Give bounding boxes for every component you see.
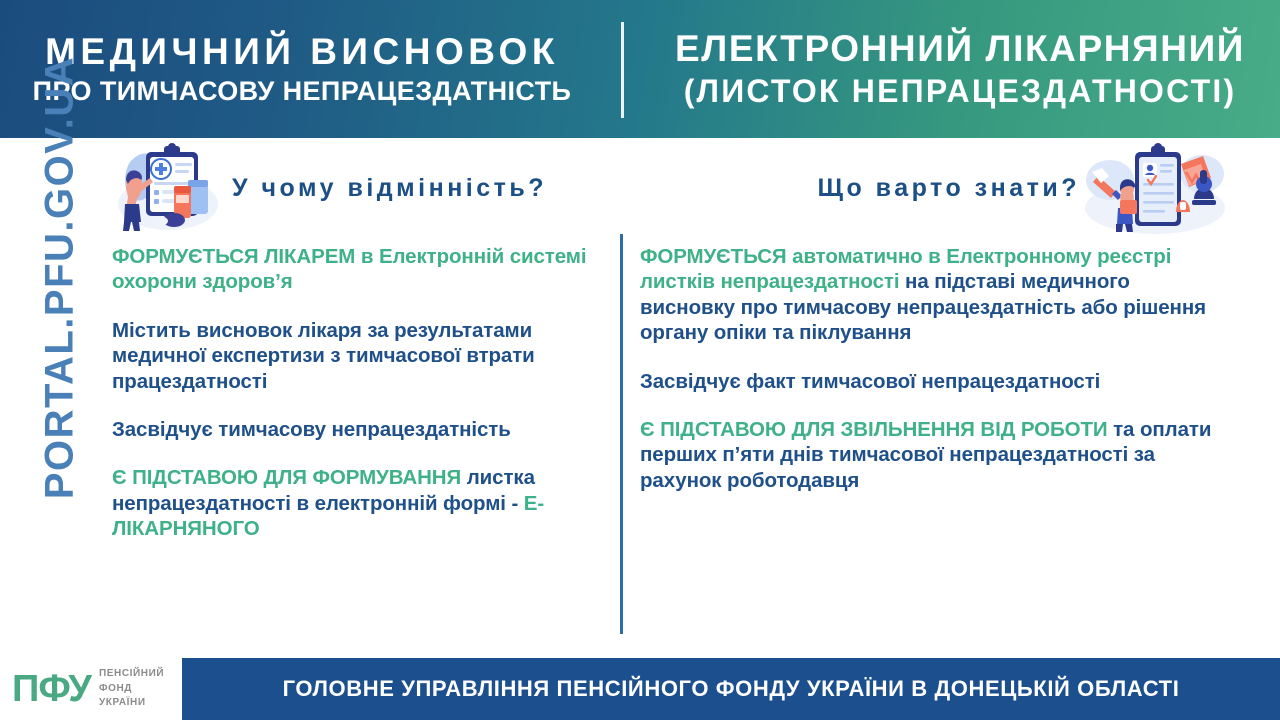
pfu-logo-line3: УКРАЇНИ [99,696,164,711]
left-column: У чому відмінність? ФОРМУЄТЬСЯ ЛІКАРЕМ в… [112,138,617,565]
header-left-line1: МЕДИЧНИЙ ВИСНОВОК [45,31,559,72]
right-column-header: Що варто знати? [640,138,1230,238]
left-block-1: ФОРМУЄТЬСЯ ЛІКАРЕМ в Електронній системі… [112,244,617,295]
right-block-1: ФОРМУЄТЬСЯ автоматично в Електронному ре… [640,244,1230,346]
right-block-3: Є ПІДСТАВОЮ ДЛЯ ЗВІЛЬНЕННЯ ВІД РОБОТИ та… [640,417,1230,493]
doctor-clipboard-medicine-icon [112,142,224,234]
right-block-2-text: Засвідчує факт тимчасової непрацездатнос… [640,370,1100,393]
left-column-blocks: ФОРМУЄТЬСЯ ЛІКАРЕМ в Електронній системі… [112,238,617,542]
footer-department-text: ГОЛОВНЕ УПРАВЛІННЯ ПЕНСІЙНОГО ФОНДУ УКРА… [283,676,1180,702]
clipboard-microscope-lab-icon [1080,142,1230,238]
header-left-title: МЕДИЧНИЙ ВИСНОВОК ПРО ТИМЧАСОВУ НЕПРАЦЕЗ… [0,0,622,138]
left-block-3-text: Засвідчує тимчасову непрацездатність [112,418,511,441]
pfu-logo-words: ПЕНСІЙНИЙ ФОНД УКРАЇНИ [99,667,164,711]
pfu-logo: ПФУ ПЕНСІЙНИЙ ФОНД УКРАЇНИ [0,658,182,720]
infographic-poster: МЕДИЧНИЙ ВИСНОВОК ПРО ТИМЧАСОВУ НЕПРАЦЕЗ… [0,0,1280,720]
header-left-line2: ПРО ТИМЧАСОВУ НЕПРАЦЕЗДАТНІСТЬ [33,76,572,107]
left-block-1-accent: ФОРМУЄТЬСЯ ЛІКАРЕМ [112,245,355,268]
pfu-logo-line2: ФОНД [99,682,164,697]
header-banner: МЕДИЧНИЙ ВИСНОВОК ПРО ТИМЧАСОВУ НЕПРАЦЕЗ… [0,0,1280,138]
right-column: Що варто знати? [640,138,1230,516]
header-divider [621,22,624,118]
column-divider [620,234,623,634]
right-block-2: Засвідчує факт тимчасової непрацездатнос… [640,369,1230,394]
left-column-header: У чому відмінність? [112,138,617,238]
header-right-line2: (ЛИСТОК НЕПРАЦЕЗДАТНОСТІ) [684,73,1237,110]
left-block-2: Містить висновок лікаря за результатами … [112,318,617,394]
content-area: У чому відмінність? ФОРМУЄТЬСЯ ЛІКАРЕМ в… [0,138,1280,658]
left-block-3: Засвідчує тимчасову непрацездатність [112,417,617,442]
right-block-1-accent: ФОРМУЄТЬСЯ [640,245,787,268]
left-block-4: Є ПІДСТАВОЮ ДЛЯ ФОРМУВАННЯ листка непрац… [112,465,617,541]
footer-bar: ГОЛОВНЕ УПРАВЛІННЯ ПЕНСІЙНОГО ФОНДУ УКРА… [182,658,1280,720]
pfu-logo-mark: ПФУ [12,670,91,708]
footer: ПФУ ПЕНСІЙНИЙ ФОНД УКРАЇНИ ГОЛОВНЕ УПРАВ… [0,658,1280,720]
right-column-blocks: ФОРМУЄТЬСЯ автоматично в Електронному ре… [640,238,1230,493]
right-block-3-accent: Є ПІДСТАВОЮ ДЛЯ ЗВІЛЬНЕННЯ ВІД РОБОТИ [640,418,1108,441]
left-column-title: У чому відмінність? [232,174,547,203]
pfu-logo-line1: ПЕНСІЙНИЙ [99,667,164,682]
header-right-title: ЕЛЕКТРОННИЙ ЛІКАРНЯНИЙ (ЛИСТОК НЕПРАЦЕЗД… [622,0,1280,138]
left-block-2-text: Містить висновок лікаря за результатами … [112,319,535,393]
header-right-line1: ЕЛЕКТРОННИЙ ЛІКАРНЯНИЙ [675,28,1245,69]
left-block-4-accent: Є ПІДСТАВОЮ ДЛЯ ФОРМУВАННЯ [112,466,461,489]
right-column-title: Що варто знати? [817,174,1080,203]
